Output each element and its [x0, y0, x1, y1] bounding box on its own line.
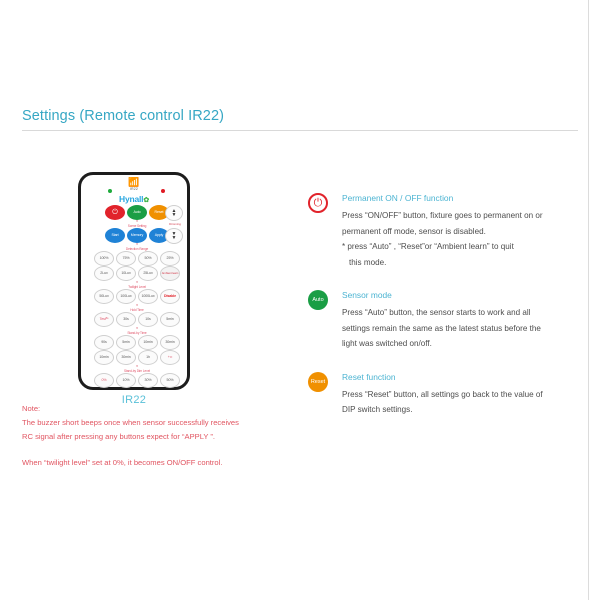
keypad-row: 90s5min10min30min [85, 335, 189, 350]
remote-key-label: 30% [145, 379, 152, 383]
note-extra-line: When “twilight level” set at 0%, it beco… [22, 456, 302, 470]
feature-body-line: Press “Reset” button, all settings go ba… [342, 387, 580, 403]
remote-key-range-100[interactable]: 100% [94, 251, 114, 266]
remote-key-label: 10% [123, 379, 130, 383]
keypad-row: 100%75%50%25% [85, 251, 189, 266]
remote-key-label: Apply [155, 234, 164, 238]
remote-control-figure: 📶 IR22 Hynall✿ ⏻AutoResetScene SettingSt… [78, 172, 190, 406]
remote-key-standby-30min-b[interactable]: 30min [116, 350, 136, 365]
remote-key-dim-30[interactable]: 30% [138, 373, 158, 388]
page-right-border [588, 0, 589, 600]
remote-key-label: 100% [100, 257, 109, 261]
remote-key-label: +∞ [168, 356, 172, 360]
remote-key-label: 25% [167, 257, 174, 261]
feature-body: Press “Auto” button, the sensor starts t… [342, 305, 580, 352]
remote-key-standby-infinite[interactable]: +∞ [160, 350, 180, 365]
remote-key-label: 25Lux [143, 272, 152, 276]
remote-key-start[interactable]: Start [105, 228, 125, 243]
remote-key-standby-10min-b[interactable]: 10min [94, 350, 114, 365]
note-line: The buzzer short beeps once when sensor … [22, 416, 302, 430]
remote-key-dim-10[interactable]: 10% [116, 373, 136, 388]
feature-body-line: * press “Auto” , “Reset”or “Ambient lear… [342, 239, 580, 255]
chevron-up-sub-icon: ▼ [172, 213, 177, 218]
remote-key-standby-5min[interactable]: 5min [116, 335, 136, 350]
remote-key-standby-1h[interactable]: 1h [138, 350, 158, 365]
keypad-row: 10min30min1h+∞ [85, 350, 189, 365]
keypad-separator-label: Stand-by Time [85, 327, 189, 335]
auto-button-icon: Auto [308, 290, 328, 310]
power-button-icon: ⏻ [308, 193, 328, 213]
remote-key-label: Disable [164, 295, 176, 299]
remote-key-label: 75% [123, 257, 130, 261]
keypad-separator-label: Stand-by Dim Level [85, 365, 189, 373]
feature-body-line: this mode. [342, 255, 580, 271]
dim-down-button[interactable]: ▼ ▼ [165, 228, 183, 244]
page-root: Settings (Remote control IR22) 📶 IR22 Hy… [0, 0, 600, 600]
remote-key-label: 10min [99, 356, 108, 360]
dim-up-button[interactable]: ▲ ▼ [165, 205, 183, 221]
remote-key-range-25[interactable]: 25% [160, 251, 180, 266]
remote-key-label: 30min [121, 356, 130, 360]
ir-model-label: IR22 [128, 187, 139, 191]
section-divider [22, 130, 578, 131]
remote-key-dim-50[interactable]: 50% [160, 373, 180, 388]
feature-body-line: light was switched on/off. [342, 336, 580, 352]
feature-item: ResetReset functionPress “Reset” button,… [308, 371, 580, 418]
feature-body: Press “ON/OFF” button, fixture goes to p… [342, 208, 580, 270]
remote-key-lux-50[interactable]: 50Lux [94, 289, 114, 304]
wifi-icon: 📶 [128, 178, 139, 187]
remote-key-label: 100Lux [120, 295, 131, 299]
keypad-separator-label: Detection Range [85, 243, 189, 251]
keypad-separator-label: Twilight Level [85, 281, 189, 289]
feature-title: Permanent ON / OFF function [342, 192, 580, 204]
remote-key-label: 10Lux [121, 272, 130, 276]
remote-key-label: 10s [145, 318, 151, 322]
power-icon: ⏻ [112, 209, 117, 216]
remote-key-label: 2Lux [100, 272, 107, 276]
led-red-icon [161, 189, 165, 193]
remote-key-label: 30min [165, 341, 174, 345]
keypad-row: Test5s30s10s5min [85, 312, 189, 327]
remote-key-label: 5min [122, 341, 129, 345]
remote-key-lux-25[interactable]: 25Lux [138, 266, 158, 281]
remote-key-lux-10[interactable]: 10Lux [116, 266, 136, 281]
remote-key-label: Memory [131, 234, 143, 238]
remote-key-label: 10min [143, 341, 152, 345]
remote-key-label: Auto [134, 211, 141, 215]
remote-key-range-75[interactable]: 75% [116, 251, 136, 266]
remote-key-standby-10min[interactable]: 10min [138, 335, 158, 350]
feature-title: Reset function [342, 371, 580, 383]
remote-key-label: 50Lux [99, 295, 108, 299]
remote-key-auto[interactable]: Auto [127, 205, 147, 220]
keypad-separator-label: Hold Time [85, 304, 189, 312]
remote-body: 📶 IR22 Hynall✿ ⏻AutoResetScene SettingSt… [78, 172, 190, 390]
remote-key-hold-5min[interactable]: 5min [160, 312, 180, 327]
remote-key-label: 90s [101, 341, 107, 345]
reset-button-icon: Reset [308, 372, 328, 392]
remote-key-memory[interactable]: Memory [127, 228, 147, 243]
note-line: RC signal after pressing any buttons exp… [22, 430, 302, 444]
remote-key-ambient-learn[interactable]: Ambient learn [160, 266, 180, 281]
remote-key-label: 1h [146, 356, 150, 360]
note-spacer [22, 444, 302, 456]
remote-key-label: 30s [123, 318, 129, 322]
ir-signal-icon: 📶 IR22 [128, 178, 139, 191]
remote-key-hold-30s[interactable]: 30s [116, 312, 136, 327]
remote-key-power-onoff[interactable]: ⏻ [105, 205, 125, 220]
feature-body-line: Press “ON/OFF” button, fixture goes to p… [342, 208, 580, 224]
remote-key-label: 50% [145, 257, 152, 261]
dimming-caption: Dimming [164, 222, 186, 226]
feature-body-line: DIP switch settings. [342, 402, 580, 418]
keypad-row: 0%10%30%50% [85, 373, 189, 388]
remote-key-lux-disable[interactable]: Disable [160, 289, 180, 304]
remote-key-lux-1000[interactable]: 1000Lux [138, 289, 158, 304]
remote-key-standby-30min[interactable]: 30min [160, 335, 180, 350]
remote-key-hold-10s[interactable]: 10s [138, 312, 158, 327]
remote-key-label: 0% [102, 379, 107, 383]
feature-body-line: Press “Auto” button, the sensor starts t… [342, 305, 580, 321]
page-title: Settings (Remote control IR22) [22, 108, 578, 124]
remote-key-range-50[interactable]: 50% [138, 251, 158, 266]
feature-title: Sensor mode [342, 289, 580, 301]
remote-key-label: 1000Lux [141, 295, 154, 299]
remote-key-lux-100[interactable]: 100Lux [116, 289, 136, 304]
leaf-icon: ✿ [143, 197, 149, 204]
remote-key-label: Start [111, 234, 118, 238]
remote-key-label: 50% [167, 379, 174, 383]
remote-key-sublabel: 5s [106, 318, 109, 321]
led-green-icon [108, 189, 112, 193]
feature-list: ⏻Permanent ON / OFF functionPress “ON/OF… [308, 192, 580, 437]
feature-item: ⏻Permanent ON / OFF functionPress “ON/OF… [308, 192, 580, 270]
remote-brand-logo: Hynall✿ [81, 194, 187, 204]
feature-body-line: permanent off mode, sensor is disabled. [342, 224, 580, 240]
remote-key-lux-2[interactable]: 2Lux [94, 266, 114, 281]
note-block: Note:The buzzer short beeps once when se… [22, 402, 302, 470]
chevron-down-sub-icon: ▼ [172, 236, 177, 241]
feature-body-line: settings remain the same as the latest s… [342, 321, 580, 337]
section-header: Settings (Remote control IR22) [22, 108, 578, 131]
remote-key-label: Ambient learn [162, 272, 179, 275]
note-line: Note: [22, 402, 302, 416]
remote-key-standby-90s[interactable]: 90s [94, 335, 114, 350]
brand-text: Hynall [119, 194, 143, 204]
feature-item: AutoSensor modePress “Auto” button, the … [308, 289, 580, 352]
remote-key-label: 5min [166, 318, 173, 322]
keypad-row: 2Lux10Lux25LuxAmbient learn [85, 266, 189, 281]
remote-key-hold-test-5s[interactable]: Test5s [94, 312, 114, 327]
keypad-row: 50Lux100Lux1000LuxDisable [85, 289, 189, 304]
feature-body: Press “Reset” button, all settings go ba… [342, 387, 580, 418]
remote-key-label: Reset [155, 211, 164, 215]
remote-key-dim-0[interactable]: 0% [94, 373, 114, 388]
